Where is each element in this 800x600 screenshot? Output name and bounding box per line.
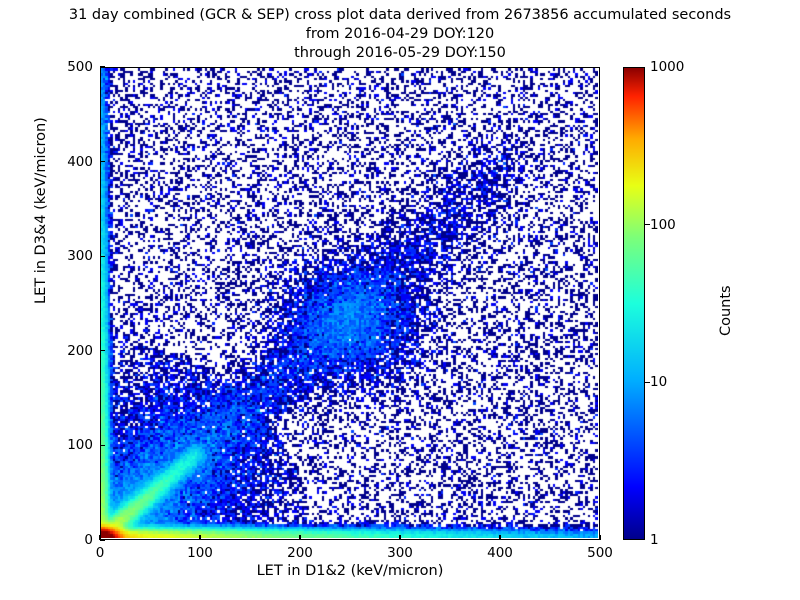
y-tick-label: 0 — [38, 532, 93, 548]
x-tick-mark — [299, 535, 300, 540]
y-tick-mark — [100, 256, 105, 257]
x-tick-mark — [499, 535, 500, 540]
y-tick-mark — [100, 445, 105, 446]
colorbar-tick-label: 1 — [650, 532, 659, 548]
x-tick-mark — [599, 535, 600, 540]
figure-canvas: 31 day combined (GCR & SEP) cross plot d… — [0, 0, 800, 600]
y-tick-mark — [100, 66, 105, 67]
x-tick-label: 300 — [387, 545, 413, 561]
colorbar-label: Counts — [718, 285, 734, 336]
plot-axes — [100, 67, 600, 540]
x-tick-label: 400 — [487, 545, 513, 561]
x-tick-mark — [99, 535, 100, 540]
x-tick-mark — [399, 535, 400, 540]
colorbar-tick-label: 10 — [650, 374, 667, 390]
colorbar — [623, 67, 645, 540]
colorbar-tick-label: 1000 — [650, 59, 684, 75]
x-tick-label: 500 — [587, 545, 613, 561]
y-tick-label: 100 — [38, 437, 93, 453]
chart-title: 31 day combined (GCR & SEP) cross plot d… — [0, 6, 800, 63]
colorbar-tick-label: 100 — [650, 217, 676, 233]
y-tick-mark — [100, 539, 105, 540]
x-tick-label: 0 — [96, 545, 105, 561]
density-scatter-plot — [101, 68, 598, 538]
y-tick-mark — [100, 350, 105, 351]
x-tick-label: 200 — [287, 545, 313, 561]
x-axis-label: LET in D1&2 (keV/micron) — [100, 563, 600, 579]
x-tick-label: 100 — [187, 545, 213, 561]
title-line-2: from 2016-04-29 DOY:120 — [0, 25, 800, 44]
y-axis-label: LET in D3&4 (keV/micron) — [33, 117, 49, 304]
y-tick-label: 200 — [38, 343, 93, 359]
x-tick-mark — [199, 535, 200, 540]
y-tick-mark — [100, 161, 105, 162]
title-line-1: 31 day combined (GCR & SEP) cross plot d… — [0, 6, 800, 25]
y-tick-label: 500 — [38, 59, 93, 75]
colorbar-gradient — [623, 67, 645, 540]
